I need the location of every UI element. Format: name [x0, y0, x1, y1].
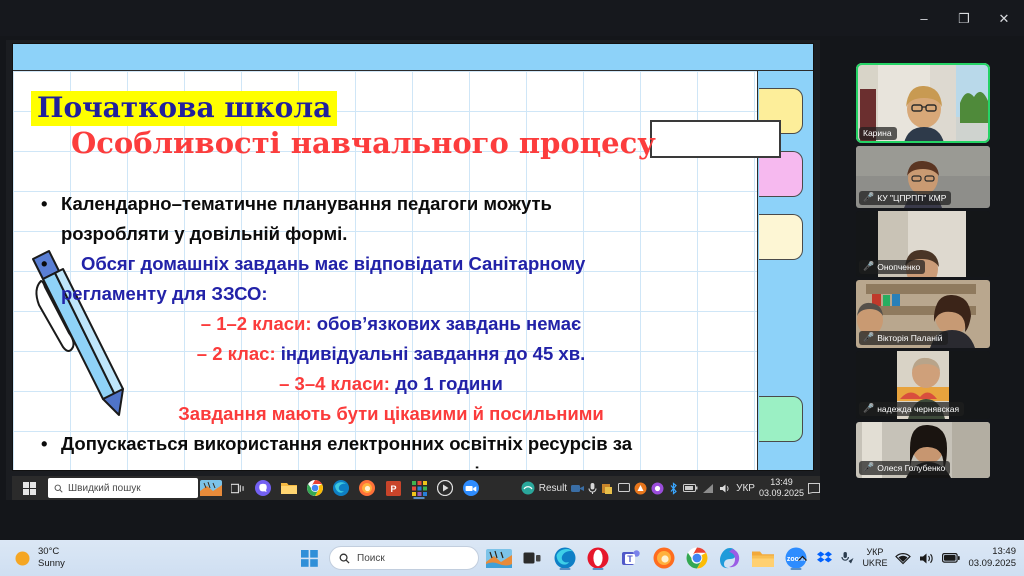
remote-tray-media-icon[interactable] [651, 482, 664, 495]
remote-tray-bluetooth-icon[interactable] [668, 482, 679, 495]
widgets-weather-icon[interactable] [486, 545, 512, 571]
line-text: Допускається використання електронних ос… [61, 433, 632, 454]
zoom-window-titlebar: – ❐ ✕ [0, 0, 1024, 36]
remote-tray-mic-icon[interactable] [588, 482, 597, 495]
windows-logo-icon [301, 550, 318, 567]
remote-tray-volume-icon[interactable] [719, 483, 732, 494]
app-chrome[interactable] [684, 545, 710, 571]
taskbar-center-group: Поиск T [296, 545, 809, 571]
tab-green [759, 396, 803, 442]
bullet-icon: • [41, 189, 61, 219]
remote-app-powerpoint[interactable]: P [380, 476, 406, 500]
line-text: розробляти у довільній формі. [61, 223, 347, 244]
volume-icon[interactable] [919, 552, 934, 565]
remote-tray-network-icon[interactable] [702, 483, 715, 494]
body-line-10: умови попереднього навчання з ними у кла… [41, 459, 741, 471]
onedrive-sync-icon[interactable] [840, 551, 854, 566]
slide-body-text: •Календарно–тематичне планування педагог… [41, 189, 741, 471]
participant-label-2: КУ "ЦПРПП" КМР [877, 193, 946, 203]
participant-tile-4[interactable]: 🎤 Вікторія Паланій [856, 280, 990, 348]
participant-label-5: надежда чернявская [877, 404, 959, 414]
mic-muted-icon: 🎤 [863, 462, 874, 473]
participant-name-3: 🎤 Онопченко [859, 260, 925, 274]
task-view-icon[interactable] [519, 545, 545, 571]
remote-app-zoom[interactable] [458, 476, 484, 500]
language-top: УКР [862, 547, 887, 558]
slide-header-bar [13, 44, 813, 71]
show-hidden-icons-chevron-up-icon[interactable] [796, 552, 809, 565]
app-file-explorer[interactable] [750, 545, 776, 571]
empty-white-box [650, 120, 781, 158]
remote-tray-display-icon[interactable] [618, 482, 630, 494]
remote-app-viber[interactable] [250, 476, 276, 500]
remote-news-widget-icon[interactable] [198, 476, 224, 500]
tab-cream [759, 214, 803, 260]
system-tray: УКР UKRE 13:49 03.09.2025 [796, 546, 1016, 570]
remote-search-placeholder: Швидкий пошук [68, 483, 141, 494]
line-text-blue: до 1 години [395, 373, 503, 394]
sun-icon [14, 550, 31, 567]
remote-language-indicator[interactable]: УКР [736, 483, 755, 494]
line-text-red: – 3–4 класи: [279, 373, 395, 394]
mic-muted-icon: 🎤 [863, 192, 874, 203]
app-edge[interactable] [552, 545, 578, 571]
participant-name-2: 🎤 КУ "ЦПРПП" КМР [859, 191, 951, 205]
remote-app-chrome[interactable] [302, 476, 328, 500]
participant-tile-5[interactable]: 🎤 надежда чернявская [856, 351, 990, 419]
participant-name-5: 🎤 надежда чернявская [859, 402, 964, 416]
line-text-red: – 1–2 класи: [201, 313, 317, 334]
remote-tray-app-icon[interactable] [601, 482, 614, 495]
participant-name-6: 🎤 Олеся Голубенко [859, 461, 950, 475]
participant-label-6: Олеся Голубенко [877, 463, 945, 473]
svg-text:T: T [627, 554, 633, 564]
taskbar-search-placeholder: Поиск [357, 553, 385, 564]
weather-condition: Sunny [38, 558, 65, 570]
remote-tray-label: Result [539, 483, 567, 494]
weather-temperature: 30°C [38, 546, 65, 558]
app-copilot[interactable] [717, 545, 743, 571]
remote-app-file-explorer[interactable] [276, 476, 302, 500]
remote-search-input[interactable]: Швидкий пошук [48, 478, 198, 498]
clock-date: 03.09.2025 [968, 558, 1016, 570]
body-line-9: •Допускається використання електронних о… [41, 429, 741, 459]
app-firefox[interactable] [651, 545, 677, 571]
remote-start-icon[interactable] [12, 476, 46, 500]
window-controls: – ❐ ✕ [904, 0, 1024, 36]
line-text: Календарно–тематичне планування педагоги… [61, 193, 552, 214]
remote-tray-camera-icon[interactable] [571, 483, 584, 494]
line-text-blue: обовʼязкових завдань немає [317, 313, 582, 334]
weather-widget[interactable]: 30°C Sunny [0, 546, 65, 570]
line-text: регламенту для ЗЗСО: [61, 283, 268, 304]
mic-muted-icon: 🎤 [863, 261, 874, 272]
remote-clock-date: 03.09.2025 [759, 488, 804, 499]
remote-clock[interactable]: 13:49 03.09.2025 [759, 477, 804, 499]
presentation-slide: Початкова школа Особливості навчального … [12, 43, 814, 471]
search-icon [339, 553, 350, 564]
body-line-3: •Обсяг домашніх завдань має відповідати … [41, 249, 741, 279]
participant-tile-3[interactable]: 🎤 Онопченко [856, 211, 990, 277]
body-line-7: – 3–4 класи: до 1 години [41, 369, 741, 399]
restore-icon[interactable]: ❐ [944, 0, 984, 36]
remote-task-view-icon[interactable] [224, 476, 250, 500]
remote-system-tray: Result УКР 13:49 03.09.2025 [521, 477, 820, 499]
wifi-icon[interactable] [895, 552, 911, 565]
bullet-icon: • [41, 429, 61, 459]
body-line-8: Завдання мають бути цікавими й посильним… [41, 399, 741, 429]
dropbox-icon[interactable] [817, 551, 832, 565]
screen: – ❐ ✕ Початкова школа Особливості навчал… [0, 0, 1024, 576]
slide-subtitle: Особливості навчального процесу [71, 128, 656, 158]
remote-taskbar: Швидкий пошук P [12, 476, 820, 500]
clock-time: 13:49 [968, 546, 1016, 558]
body-line-2: розробляти у довільній формі. [41, 219, 741, 249]
language-bottom: UKRE [862, 558, 887, 569]
slide-title-highlighted: Початкова школа [31, 91, 337, 126]
minimize-icon[interactable]: – [904, 0, 944, 36]
remote-tray-updater-icon[interactable] [634, 482, 647, 495]
participant-filmstrip: Карина 🎤 КУ "ЦПРПП" КМР [856, 63, 990, 475]
line-text: Обсяг домашніх завдань має відповідати С… [61, 253, 585, 274]
taskbar-clock[interactable]: 13:49 03.09.2025 [968, 546, 1016, 570]
weather-text: 30°C Sunny [38, 546, 65, 570]
app-teams[interactable]: T [618, 545, 644, 571]
body-line-1: •Календарно–тематичне планування педагог… [41, 189, 741, 219]
result-app-icon [521, 481, 535, 495]
participant-label-1: Карина [863, 128, 892, 138]
close-icon[interactable]: ✕ [984, 0, 1024, 36]
participant-label-3: Онопченко [877, 262, 920, 272]
line-text-blue: індивідуальні завдання до 45 хв. [281, 343, 585, 364]
body-line-4: регламенту для ЗЗСО: [41, 279, 741, 309]
line-text: умови попереднього навчання з ними у кла… [61, 463, 480, 471]
participant-tile-2[interactable]: 🎤 КУ "ЦПРПП" КМР [856, 146, 990, 208]
language-indicator[interactable]: УКР UKRE [862, 547, 887, 569]
body-line-5: – 1–2 класи: обовʼязкових завдань немає [41, 309, 741, 339]
mic-muted-icon: 🎤 [863, 403, 874, 414]
remote-app-firefox[interactable] [354, 476, 380, 500]
start-button[interactable] [296, 545, 322, 571]
bullet-icon: • [41, 249, 61, 279]
search-icon [54, 484, 63, 493]
taskbar-search-input[interactable]: Поиск [329, 546, 479, 570]
app-opera[interactable] [585, 545, 611, 571]
participant-label-4: Вікторія Паланій [877, 333, 942, 343]
line-text-red: Завдання мають бути цікавими й посильним… [178, 403, 604, 424]
svg-text:P: P [390, 484, 396, 494]
participant-name-4: 🎤 Вікторія Паланій [859, 331, 948, 345]
participant-tile-6[interactable]: 🎤 Олеся Голубенко [856, 422, 990, 478]
participant-tile-1[interactable]: Карина [856, 63, 990, 143]
remote-app-media-player[interactable] [432, 476, 458, 500]
remote-clock-time: 13:49 [759, 477, 804, 488]
remote-tray-battery-icon[interactable] [683, 483, 698, 493]
remote-action-center-icon[interactable] [808, 483, 820, 494]
battery-icon[interactable] [942, 552, 960, 564]
remote-app-edge[interactable] [328, 476, 354, 500]
windows-taskbar: 30°C Sunny Поиск [0, 540, 1024, 576]
line-text-red: – 2 клас: [197, 343, 281, 364]
body-line-6: – 2 клас: індивідуальні завдання до 45 х… [41, 339, 741, 369]
shared-screen-area: Початкова школа Особливості навчального … [6, 40, 820, 500]
participant-name-1: Карина [859, 127, 897, 140]
mic-muted-icon: 🎤 [863, 332, 874, 343]
